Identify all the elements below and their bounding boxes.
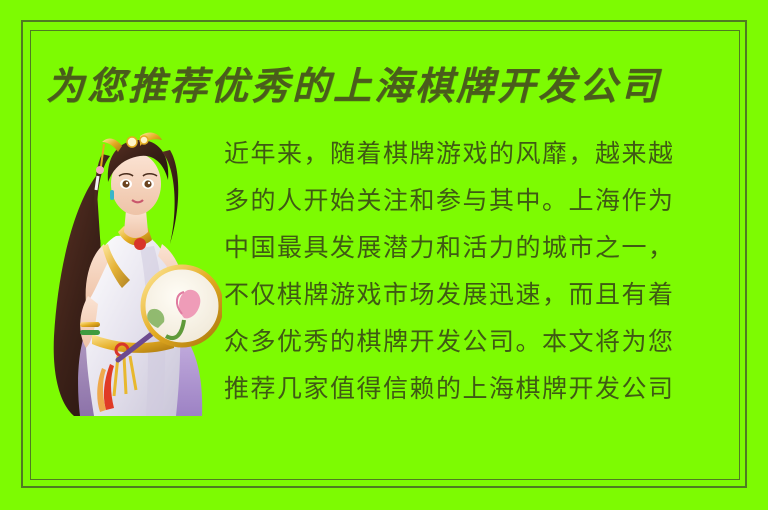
body-line: 中国最具发展潜力和活力的城市之一， (224, 224, 736, 271)
eye-left (122, 180, 129, 187)
earring (110, 190, 114, 200)
body-line: 推荐几家值得信赖的上海棋牌开发公司 (224, 365, 736, 412)
bracelet-gold (80, 322, 100, 327)
body-line: 不仅棋牌游戏市场发展迅速，而且有着 (224, 271, 736, 318)
body-line: 近年来，随着棋牌游戏的风靡，越来越 (224, 130, 736, 177)
page-title: 为您推荐优秀的上海棋牌开发公司 (46, 60, 706, 116)
poster-canvas: 为您推荐优秀的上海棋牌开发公司 (0, 0, 768, 510)
body-paragraph: 近年来，随着棋牌游戏的风靡，越来越 多的人开始关注和参与其中。上海作为 中国最具… (224, 130, 736, 412)
body-line: 众多优秀的棋牌开发公司。本文将为您 (224, 318, 736, 365)
eye-right (144, 180, 151, 187)
illustration-chinese-lady (44, 128, 222, 416)
collar-knot (134, 238, 146, 250)
bracelet-jade (80, 330, 100, 335)
body-line: 多的人开始关注和参与其中。上海作为 (224, 177, 736, 224)
